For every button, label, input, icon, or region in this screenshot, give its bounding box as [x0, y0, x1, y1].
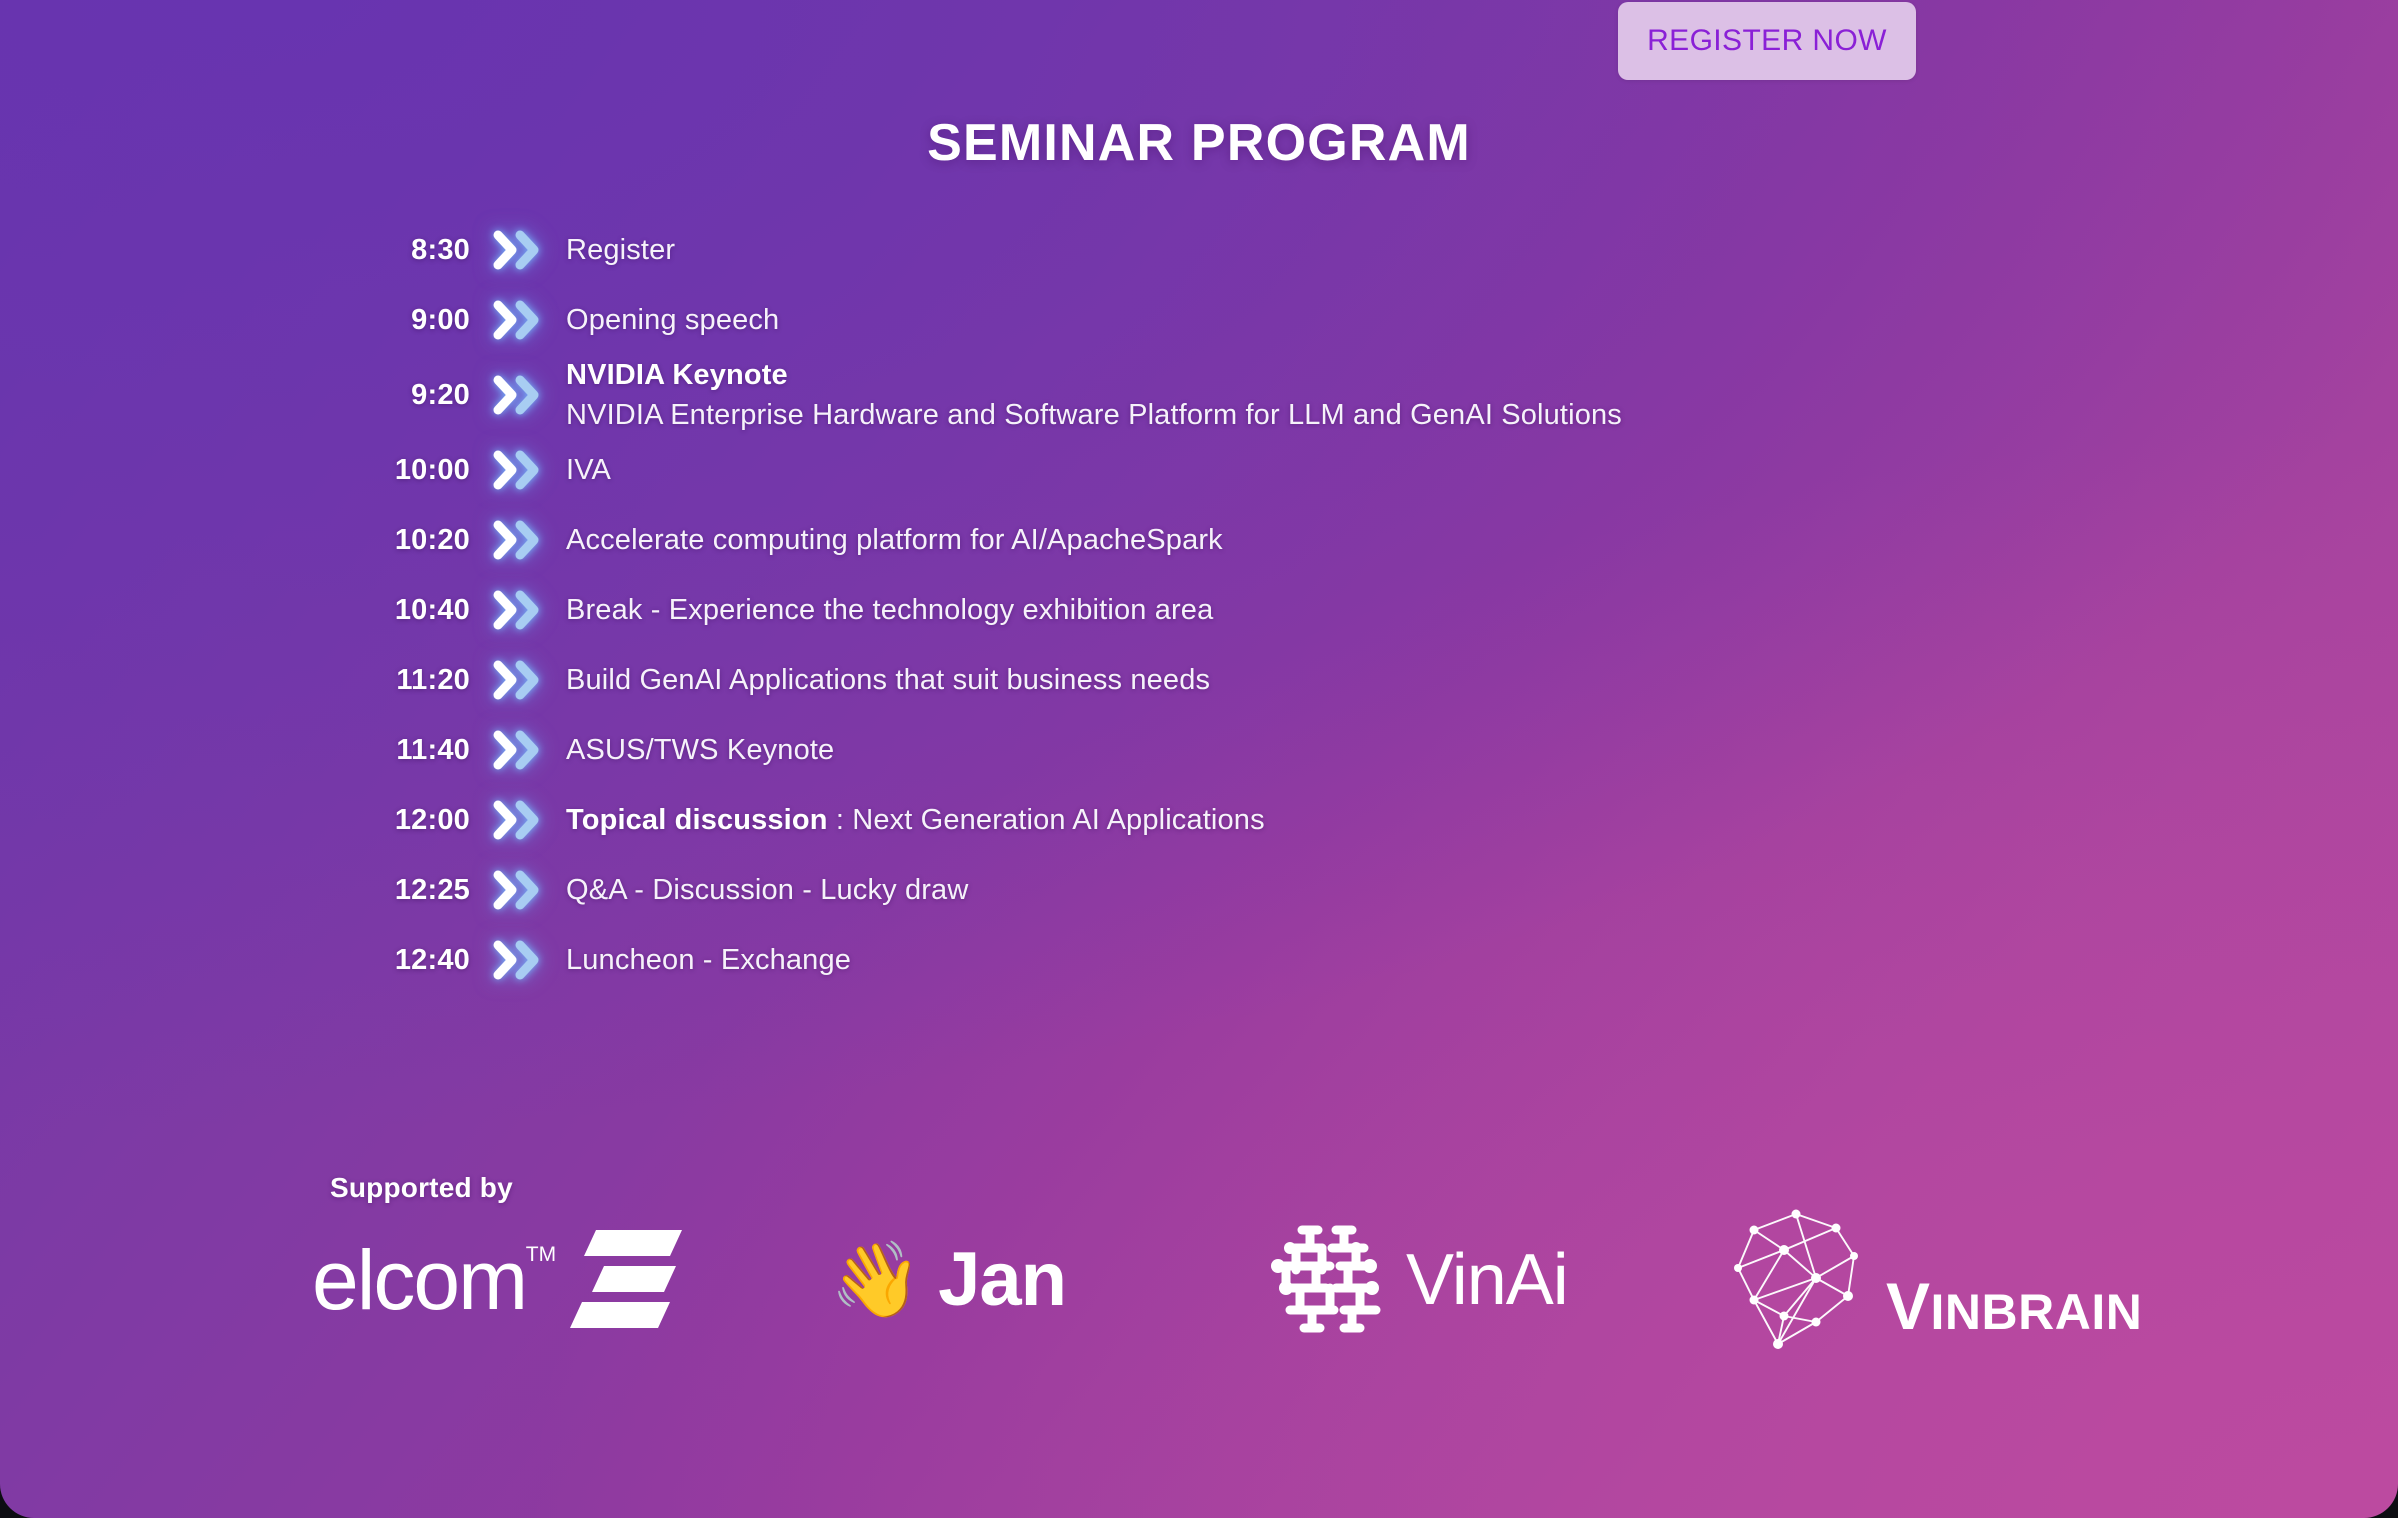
- schedule-row: 10:20Accelerate computing platform for A…: [330, 505, 2030, 575]
- schedule-entry: Build GenAI Applications that suit busin…: [566, 660, 2030, 700]
- schedule-entry-title: Q&A - Discussion - Lucky draw: [566, 874, 968, 906]
- sponsor-logo-vinbrain: VINBRAIN: [1720, 1205, 2142, 1355]
- schedule-row: 11:40ASUS/TWS Keynote: [330, 715, 2030, 785]
- schedule-entry: IVA: [566, 450, 2030, 490]
- schedule-entry-subtitle: NVIDIA Enterprise Hardware and Software …: [566, 395, 2030, 435]
- schedule-entry: Luncheon - Exchange: [566, 940, 2030, 980]
- schedule-time: 12:40: [330, 944, 470, 977]
- schedule-time: 12:00: [330, 804, 470, 837]
- sponsor-logo-jan: 👋 Jan: [830, 1205, 1066, 1355]
- schedule-entry: Topical discussion : Next Generation AI …: [566, 800, 2030, 840]
- schedule-row: 10:40Break - Experience the technology e…: [330, 575, 2030, 645]
- schedule-entry-title: Topical discussion: [566, 804, 828, 836]
- elcom-trademark-text: TM: [526, 1244, 556, 1265]
- double-chevron-icon: [470, 300, 566, 340]
- schedule-row: 10:00IVA: [330, 435, 2030, 505]
- double-chevron-icon: [470, 375, 566, 415]
- schedule-row: 8:30Register: [330, 215, 2030, 285]
- double-chevron-icon: [470, 940, 566, 980]
- schedule-time: 10:20: [330, 524, 470, 557]
- schedule-time: 9:20: [330, 379, 470, 412]
- schedule-entry: Break - Experience the technology exhibi…: [566, 590, 2030, 630]
- double-chevron-icon: [470, 730, 566, 770]
- schedule-entry-title: Opening speech: [566, 304, 779, 336]
- schedule-row: 9:20NVIDIA KeynoteNVIDIA Enterprise Hard…: [330, 355, 2030, 435]
- schedule-entry: NVIDIA KeynoteNVIDIA Enterprise Hardware…: [566, 355, 2030, 435]
- schedule-entry-title: Register: [566, 234, 675, 266]
- schedule-row: 11:20Build GenAI Applications that suit …: [330, 645, 2030, 715]
- schedule-entry-title: Accelerate computing platform for AI/Apa…: [566, 524, 1223, 556]
- double-chevron-icon: [470, 870, 566, 910]
- elcom-e-mark-icon: [570, 1226, 682, 1335]
- vinbrain-wordmark: VINBRAIN: [1886, 1273, 2142, 1339]
- double-chevron-icon: [470, 660, 566, 700]
- schedule-entry-title: IVA: [566, 454, 611, 486]
- waving-hand-icon: 👋: [830, 1243, 922, 1317]
- vinai-circuit-icon: [1260, 1214, 1388, 1347]
- schedule-entry-title: Build GenAI Applications that suit busin…: [566, 664, 1210, 696]
- schedule-time: 12:25: [330, 874, 470, 907]
- schedule-time: 11:40: [330, 734, 470, 767]
- schedule-entry: ASUS/TWS Keynote: [566, 730, 2030, 770]
- schedule-entry: Accelerate computing platform for AI/Apa…: [566, 520, 2030, 560]
- schedule-entry: Q&A - Discussion - Lucky draw: [566, 870, 2030, 910]
- schedule-row: 12:40Luncheon - Exchange: [330, 925, 2030, 995]
- schedule-time: 10:40: [330, 594, 470, 627]
- vinbrain-wordmark-rest: INBRAIN: [1931, 1284, 2143, 1340]
- schedule-time: 10:00: [330, 454, 470, 487]
- schedule-row: 12:25Q&A - Discussion - Lucky draw: [330, 855, 2030, 925]
- sponsor-logo-vinai: VinAi: [1260, 1205, 1568, 1355]
- schedule-row: 9:00Opening speech: [330, 285, 2030, 355]
- vinbrain-wordmark-initial: V: [1886, 1269, 1931, 1343]
- double-chevron-icon: [470, 230, 566, 270]
- register-now-button[interactable]: REGISTER NOW: [1618, 2, 1916, 80]
- schedule-entry-title-rest: : Next Generation AI Applications: [828, 804, 1265, 836]
- double-chevron-icon: [470, 520, 566, 560]
- schedule-entry-title: ASUS/TWS Keynote: [566, 734, 834, 766]
- double-chevron-icon: [470, 800, 566, 840]
- page-title: SEMINAR PROGRAM: [0, 113, 2398, 173]
- schedule-entry: Register: [566, 230, 2030, 270]
- sponsor-logo-strip: elcom TM 👋 Jan: [300, 1205, 2130, 1355]
- schedule-entry-title: Luncheon - Exchange: [566, 944, 851, 976]
- schedule-row: 12:00Topical discussion : Next Generatio…: [330, 785, 2030, 855]
- vinai-wordmark: VinAi: [1406, 1244, 1568, 1316]
- schedule-entry-title: NVIDIA Keynote: [566, 359, 788, 391]
- schedule-time: 8:30: [330, 234, 470, 267]
- supported-by-label: Supported by: [330, 1172, 513, 1204]
- register-button-container: REGISTER NOW: [1618, 2, 1916, 80]
- sponsor-logo-elcom: elcom TM: [312, 1205, 682, 1355]
- jan-wordmark: Jan: [938, 1242, 1066, 1318]
- elcom-wordmark-text: elcom: [312, 1233, 526, 1327]
- schedule-entry: Opening speech: [566, 300, 2030, 340]
- schedule-entry-title: Break - Experience the technology exhibi…: [566, 594, 1213, 626]
- schedule-time: 11:20: [330, 664, 470, 697]
- double-chevron-icon: [470, 450, 566, 490]
- brain-network-icon: [1720, 1204, 1890, 1357]
- double-chevron-icon: [470, 590, 566, 630]
- schedule-list: 8:30Register9:00Opening speech9:20NVIDIA…: [330, 215, 2030, 995]
- schedule-time: 9:00: [330, 304, 470, 337]
- elcom-wordmark: elcom TM: [312, 1238, 526, 1322]
- seminar-program-page: REGISTER NOW SEMINAR PROGRAM 8:30Registe…: [0, 0, 2398, 1518]
